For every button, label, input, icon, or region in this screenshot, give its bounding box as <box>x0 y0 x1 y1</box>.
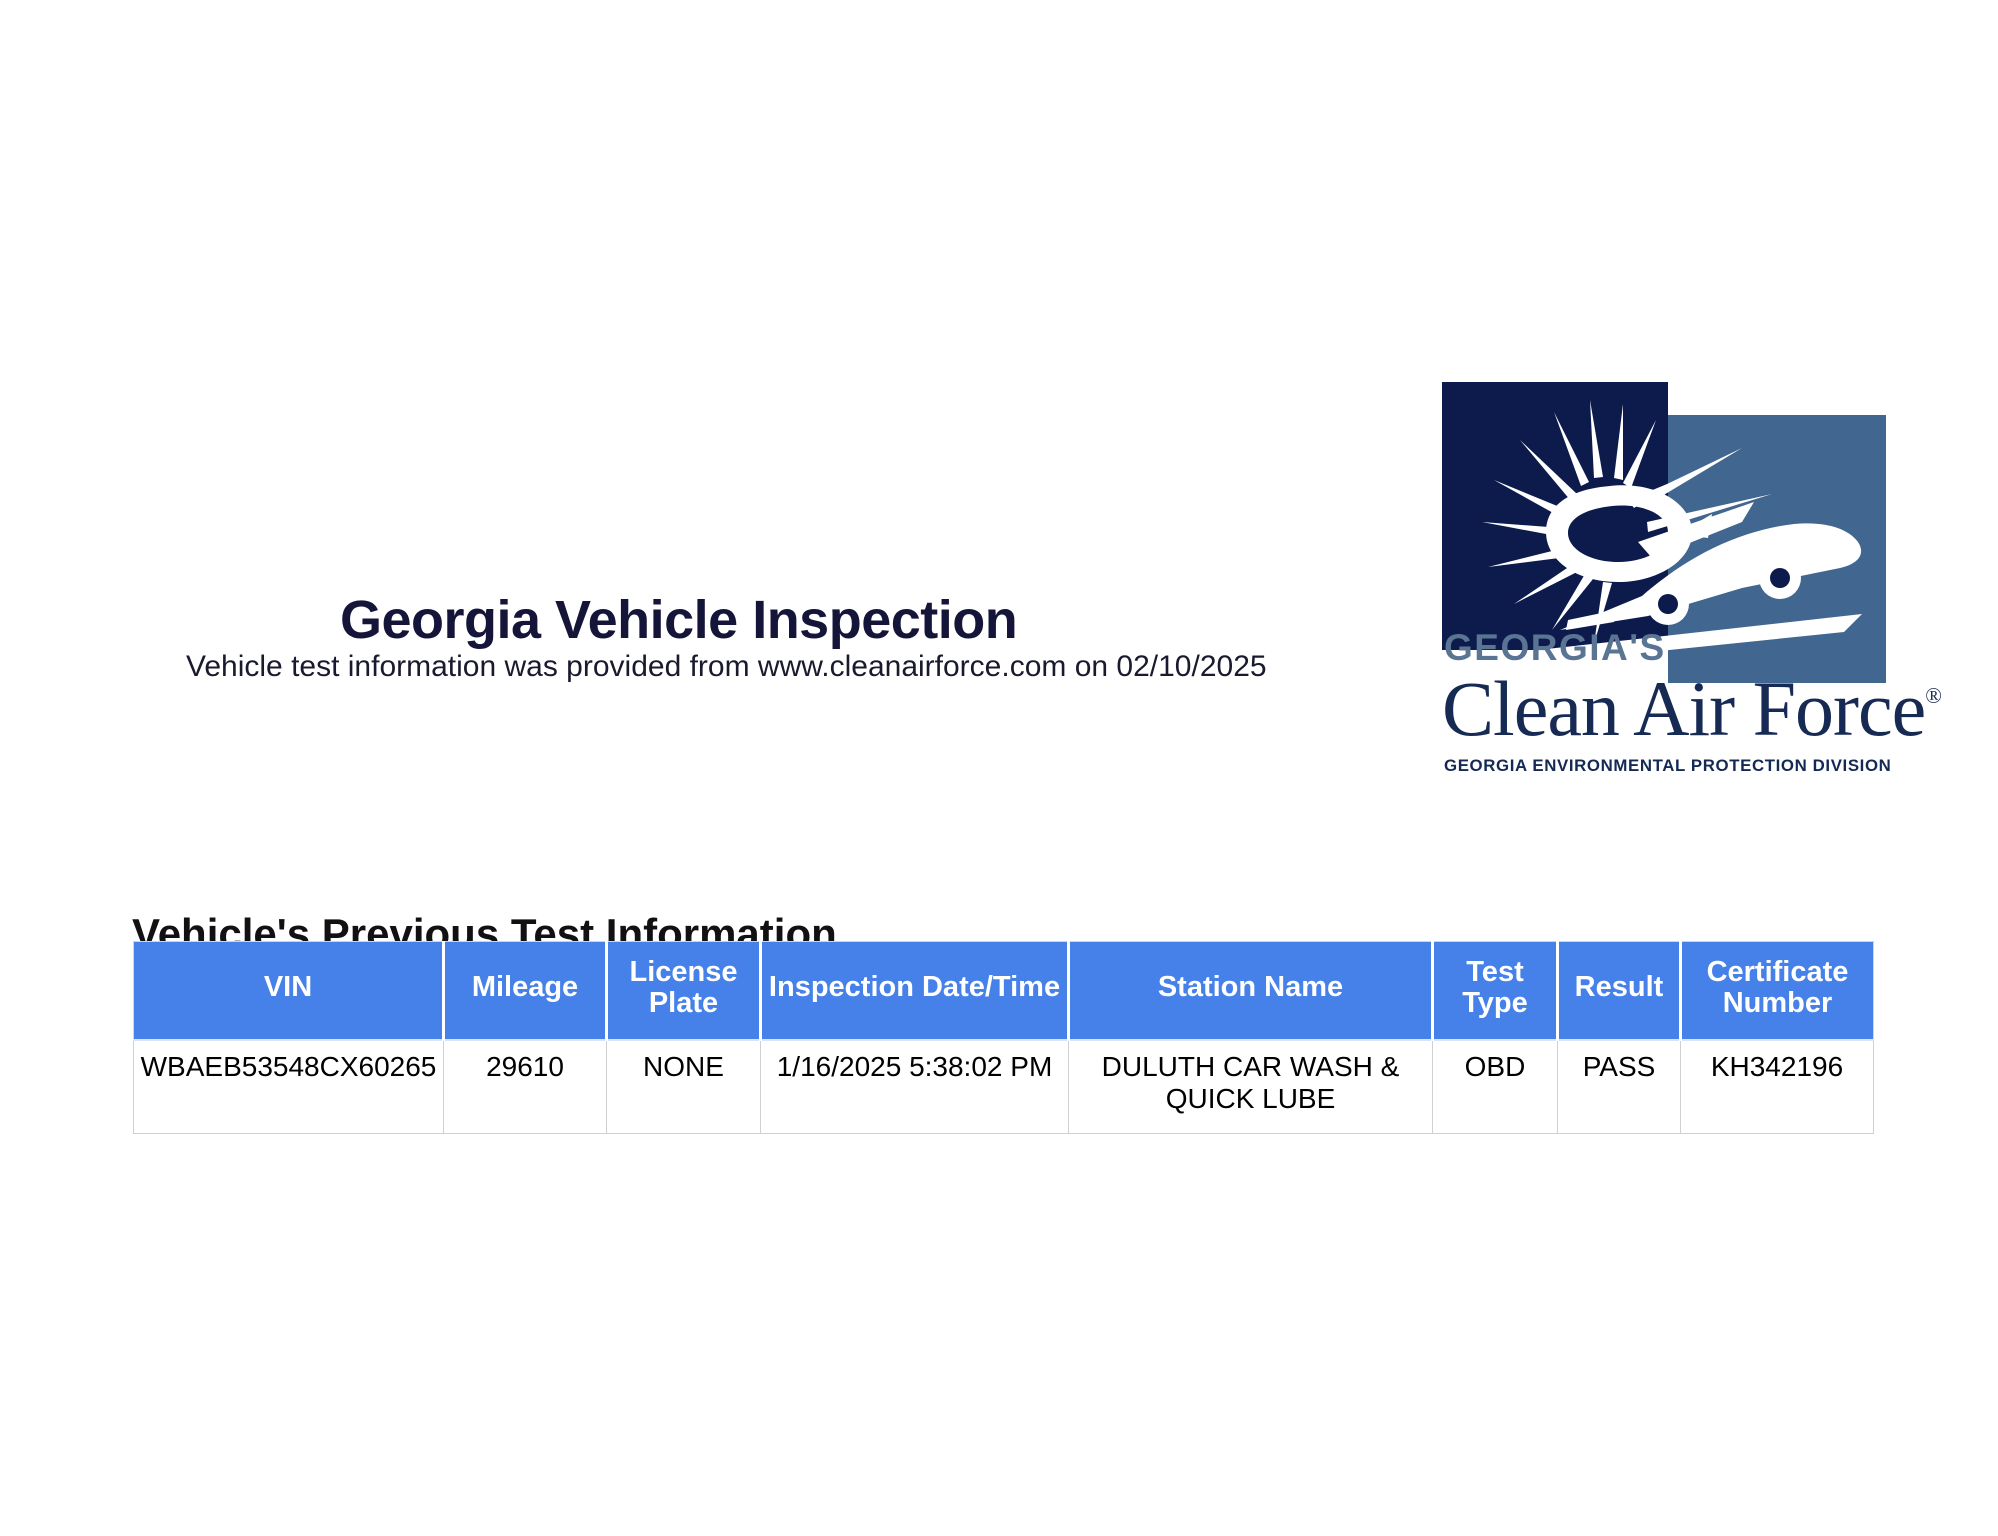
page-title: Georgia Vehicle Inspection <box>340 589 1017 651</box>
column-header-mileage: Mileage <box>444 942 607 1041</box>
logo-kicker: GEORGIA'S <box>1444 629 1666 666</box>
cell-test-type: OBD <box>1433 1040 1558 1134</box>
previous-test-information-table: VIN Mileage License Plate Inspection Dat… <box>133 941 1874 1134</box>
cell-vin: WBAEB53548CX60265 <box>134 1040 444 1134</box>
table-row: WBAEB53548CX60265 29610 NONE 1/16/2025 5… <box>134 1040 1874 1134</box>
column-header-result: Result <box>1558 942 1681 1041</box>
registered-trademark-icon: ® <box>1925 683 1941 708</box>
column-header-inspection-datetime: Inspection Date/Time <box>761 942 1069 1041</box>
logo-wordmark-text: Clean Air Force <box>1442 665 1925 752</box>
cell-inspection-datetime: 1/16/2025 5:38:02 PM <box>761 1040 1069 1134</box>
table-header-row: VIN Mileage License Plate Inspection Dat… <box>134 942 1874 1041</box>
page-subtitle: Vehicle test information was provided fr… <box>186 650 1267 684</box>
clean-air-force-logo: GEORGIA'S Clean Air Force® GEORGIA ENVIR… <box>1442 382 1892 802</box>
cell-certificate-number: KH342196 <box>1681 1040 1874 1134</box>
cell-license-plate: NONE <box>607 1040 761 1134</box>
column-header-test-type: Test Type <box>1433 942 1558 1041</box>
column-header-certificate-number: Certificate Number <box>1681 942 1874 1041</box>
cell-station-name: DULUTH CAR WASH & QUICK LUBE <box>1069 1040 1433 1134</box>
column-header-vin: VIN <box>134 942 444 1041</box>
column-header-station-name: Station Name <box>1069 942 1433 1041</box>
cell-mileage: 29610 <box>444 1040 607 1134</box>
logo-wordmark: Clean Air Force® <box>1442 670 1941 748</box>
logo-tagline: GEORGIA ENVIRONMENTAL PROTECTION DIVISIO… <box>1444 757 1891 776</box>
column-header-license-plate: License Plate <box>607 942 761 1041</box>
cell-result: PASS <box>1558 1040 1681 1134</box>
